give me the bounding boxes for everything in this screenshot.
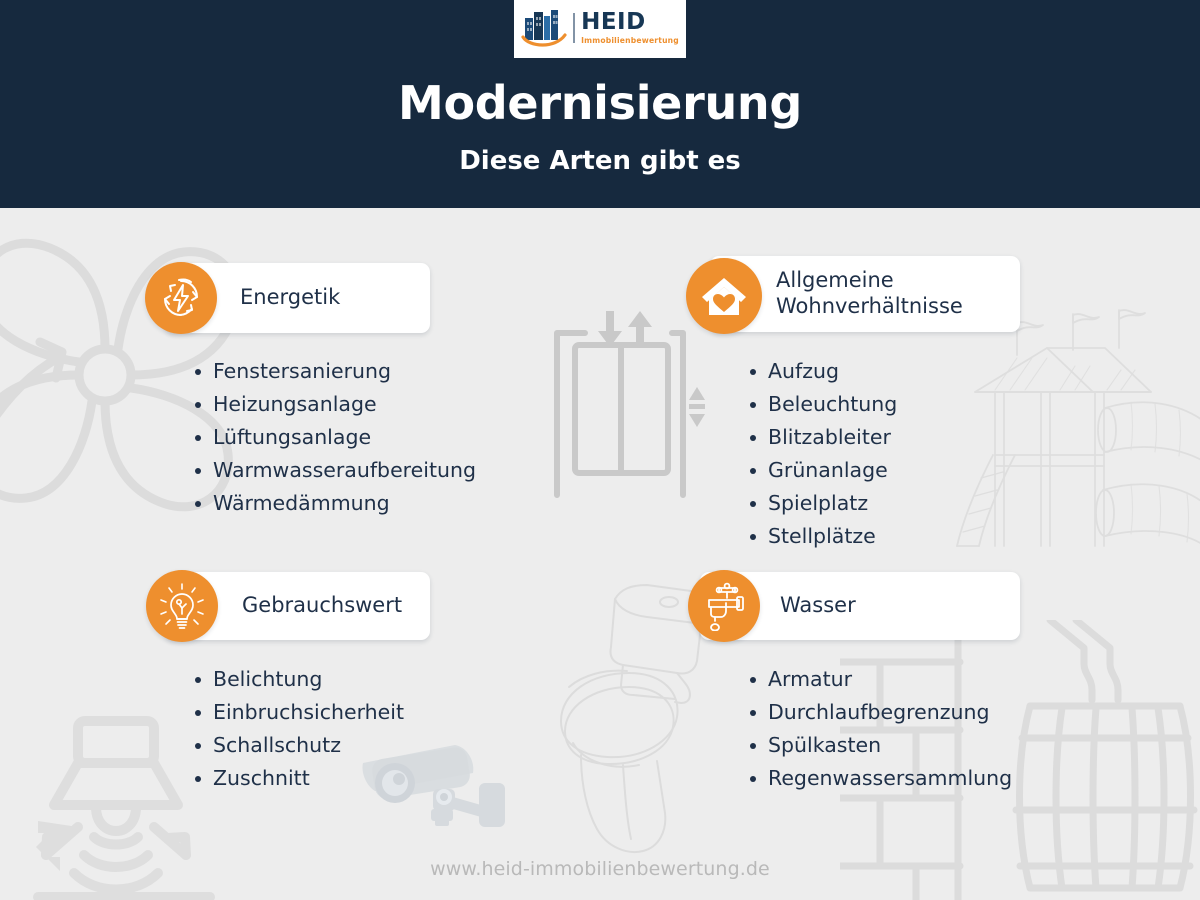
list-item: Warmwasseraufbereitung	[195, 454, 535, 487]
logo-divider	[573, 13, 575, 43]
bullet-icon	[750, 402, 756, 408]
list-item: Grünanlage	[750, 454, 1050, 487]
page-title: Modernisierung	[0, 80, 1200, 126]
card-allgemeine-wohnverhaeltnisse-label: Allgemeine Wohnverhältnisse	[776, 268, 963, 319]
list-item-label: Grünanlage	[768, 454, 888, 487]
bullet-icon	[195, 468, 201, 474]
list-item-label: Spielplatz	[768, 487, 868, 520]
list-item: Blitzableiter	[750, 421, 1050, 454]
faucet-drip-icon	[688, 570, 760, 642]
house-heart-icon	[686, 258, 762, 334]
list-item-label: Wärmedämmung	[213, 487, 390, 520]
list-item-label: Zuschnitt	[213, 762, 310, 795]
list-item-label: Durchlaufbegrenzung	[768, 696, 989, 729]
list-item-label: Beleuchtung	[768, 388, 897, 421]
list-item: Wärmedämmung	[195, 487, 535, 520]
energy-lightning-cycle-icon	[145, 262, 217, 334]
bullet-icon	[750, 534, 756, 540]
bullet-icon	[195, 369, 201, 375]
list-item-label: Aufzug	[768, 355, 839, 388]
bullet-icon	[750, 743, 756, 749]
bullet-icon	[195, 402, 201, 408]
list-item-label: Warmwasseraufbereitung	[213, 454, 476, 487]
list-item-label: Fenstersanierung	[213, 355, 391, 388]
header-banner: HEID Immobilienbewertung Modernisierung …	[0, 0, 1200, 208]
list-item: Spielplatz	[750, 487, 1050, 520]
card-gebrauchswert-label: Gebrauchswert	[242, 593, 402, 619]
list-item: Schallschutz	[195, 729, 495, 762]
list-gebrauchswert: Belichtung Einbruchsicherheit Schallschu…	[195, 663, 495, 795]
list-item: Durchlaufbegrenzung	[750, 696, 1080, 729]
bullet-icon	[750, 501, 756, 507]
bullet-icon	[750, 435, 756, 441]
list-item: Lüftungsanlage	[195, 421, 535, 454]
bullet-icon	[195, 501, 201, 507]
list-item-label: Blitzableiter	[768, 421, 891, 454]
list-item-label: Schallschutz	[213, 729, 341, 762]
list-item-label: Belichtung	[213, 663, 322, 696]
list-item-label: Einbruchsicherheit	[213, 696, 404, 729]
building-skyline-icon	[521, 7, 567, 49]
list-item: Heizungsanlage	[195, 388, 535, 421]
list-item-label: Regenwassersammlung	[768, 762, 1012, 795]
page-subtitle: Diese Arten gibt es	[0, 148, 1200, 174]
list-allgemeine-wohnverhaeltnisse: Aufzug Beleuchtung Blitzableiter Grünanl…	[750, 355, 1050, 553]
list-item: Fenstersanierung	[195, 355, 535, 388]
bullet-icon	[750, 468, 756, 474]
bullet-icon	[195, 743, 201, 749]
card-label-line-1: Allgemeine	[776, 268, 894, 292]
bullet-icon	[195, 435, 201, 441]
heid-logo[interactable]: HEID Immobilienbewertung	[514, 0, 686, 58]
list-item-label: Lüftungsanlage	[213, 421, 371, 454]
list-item-label: Armatur	[768, 663, 852, 696]
list-wasser: Armatur Durchlaufbegrenzung Spülkasten R…	[750, 663, 1080, 795]
bullet-icon	[750, 710, 756, 716]
list-item-label: Spülkasten	[768, 729, 881, 762]
list-item: Aufzug	[750, 355, 1050, 388]
list-item: Regenwassersammlung	[750, 762, 1080, 795]
bullet-icon	[195, 710, 201, 716]
bullet-icon	[195, 776, 201, 782]
list-item-label: Heizungsanlage	[213, 388, 377, 421]
list-item-label: Stellplätze	[768, 520, 876, 553]
list-item: Armatur	[750, 663, 1080, 696]
list-item: Spülkasten	[750, 729, 1080, 762]
infographic-canvas: HEID Immobilienbewertung Modernisierung …	[0, 0, 1200, 900]
card-energetik-label: Energetik	[240, 285, 340, 311]
elevator-icon	[545, 305, 715, 510]
list-energetik: Fenstersanierung Heizungsanlage Lüftungs…	[195, 355, 535, 520]
bullet-icon	[750, 776, 756, 782]
card-label-line-2: Wohnverhältnisse	[776, 294, 963, 318]
bullet-icon	[750, 677, 756, 683]
card-wasser-label: Wasser	[780, 593, 856, 619]
logo-name: HEID	[581, 11, 679, 34]
list-item: Zuschnitt	[195, 762, 495, 795]
list-item: Stellplätze	[750, 520, 1050, 553]
list-item: Beleuchtung	[750, 388, 1050, 421]
list-item: Einbruchsicherheit	[195, 696, 495, 729]
footer-url[interactable]: www.heid-immobilienbewertung.de	[0, 858, 1200, 880]
lightbulb-icon	[146, 570, 218, 642]
bullet-icon	[195, 677, 201, 683]
list-item: Belichtung	[195, 663, 495, 696]
bullet-icon	[750, 369, 756, 375]
logo-tagline: Immobilienbewertung	[581, 37, 679, 45]
